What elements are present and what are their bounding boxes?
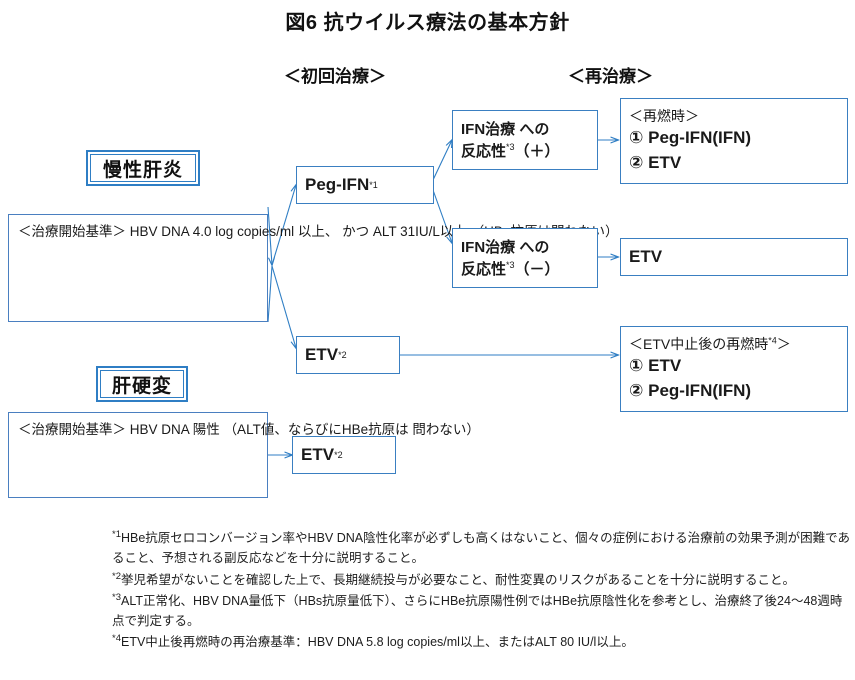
node-relapse-item-2: ② ETV — [629, 151, 839, 176]
label-chronic-hepatitis: 慢性肝炎 — [86, 150, 200, 186]
node-ifn-response-negative-sign: （－） — [515, 261, 560, 278]
node-relapse-header: ＜再燃時＞ — [629, 106, 839, 126]
node-ifn-response-positive-line2: 反応性*3（＋） — [461, 141, 589, 163]
figure-canvas: 図6 抗ウイルス療法の基本方針 ＜初回治療＞ ＜再治療＞ — [0, 0, 855, 680]
node-etv-only-text: ETV — [629, 245, 662, 270]
node-etv-chronic: ETV*2 — [296, 336, 400, 374]
node-etv-stop-relapse-item-2: ② Peg-IFN(IFN) — [629, 379, 839, 404]
footnote-3: *3ALT正常化、HBV DNA量低下（HBs抗原量低下）、さらにHBe抗原陽性… — [112, 591, 852, 632]
footnote-3-text: ALT正常化、HBV DNA量低下（HBs抗原量低下）、さらにHBe抗原陽性例で… — [112, 594, 842, 628]
node-relapse-options: ＜再燃時＞ ① Peg-IFN(IFN) ② ETV — [620, 98, 848, 184]
node-ifn-response-positive-sign: （＋） — [515, 143, 560, 160]
criteria-cirrhosis-line3: （ALT値、ならびにHBe抗原は — [224, 422, 409, 437]
footnotes-list: *1HBe抗原セロコンバージョン率やHBV DNA陰性化率が必ずしも高くはないこ… — [112, 528, 852, 654]
footnote-1: *1HBe抗原セロコンバージョン率やHBV DNA陰性化率が必ずしも高くはないこ… — [112, 528, 852, 569]
node-ifn-response-positive-footnote-ref: *3 — [506, 142, 515, 152]
footnote-4: *4ETV中止後再燃時の再治療基準：HBV DNA 5.8 log copies… — [112, 632, 852, 652]
footnote-1-marker: *1 — [112, 529, 121, 540]
node-etv-stop-relapse-header: ＜ETV中止後の再燃時*4＞ — [629, 334, 839, 354]
node-ifn-response-negative: IFN治療 への 反応性*3（－） — [452, 228, 598, 288]
footnote-2-text: 挙児希望がないことを確認した上で、長期継続投与が必要なこと、耐性変異のリスクがあ… — [121, 573, 795, 587]
criteria-chronic-line2: HBV DNA 4.0 log copies/ml 以上、 — [130, 224, 339, 239]
criteria-box-chronic-hepatitis: ＜治療開始基準＞ HBV DNA 4.0 log copies/ml 以上、 か… — [8, 214, 268, 322]
footnote-2: *2挙児希望がないことを確認した上で、長期継続投与が必要なこと、耐性変異のリスク… — [112, 570, 852, 590]
node-etv-stop-relapse-header-close: ＞ — [777, 336, 791, 352]
criteria-cirrhosis-line4: 問わない） — [412, 422, 480, 437]
node-ifn-response-negative-line2-text: 反応性 — [461, 261, 506, 278]
criteria-chronic-line1: ＜治療開始基準＞ — [18, 224, 126, 239]
node-ifn-response-negative-footnote-ref: *3 — [506, 260, 515, 270]
node-ifn-response-negative-line2: 反応性*3（－） — [461, 259, 589, 281]
node-etv-stop-relapse-footnote-ref: *4 — [768, 335, 777, 345]
node-etv-cirrhosis-text: ETV — [301, 443, 334, 468]
node-etv-cirrhosis: ETV*2 — [292, 436, 396, 474]
node-peg-ifn: Peg-IFN*1 — [296, 166, 434, 204]
criteria-cirrhosis-line2: HBV DNA 陽性 — [130, 422, 220, 437]
label-cirrhosis: 肝硬変 — [96, 366, 188, 402]
node-etv-stop-relapse-options: ＜ETV中止後の再燃時*4＞ ① ETV ② Peg-IFN(IFN) — [620, 326, 848, 412]
node-etv-stop-relapse-header-text: ＜ETV中止後の再燃時 — [629, 336, 768, 352]
node-relapse-item-1: ① Peg-IFN(IFN) — [629, 126, 839, 151]
label-chronic-hepatitis-text: 慢性肝炎 — [90, 154, 196, 182]
footnote-3-marker: *3 — [112, 592, 121, 603]
footnote-4-text: ETV中止後再燃時の再治療基準：HBV DNA 5.8 log copies/m… — [121, 635, 634, 649]
node-etv-stop-relapse-item-1: ① ETV — [629, 354, 839, 379]
node-ifn-response-positive-line1: IFN治療 への — [461, 119, 589, 141]
label-cirrhosis-text: 肝硬変 — [100, 370, 184, 398]
criteria-box-cirrhosis: ＜治療開始基準＞ HBV DNA 陽性 （ALT値、ならびにHBe抗原は 問わな… — [8, 412, 268, 498]
node-ifn-response-positive-line2-text: 反応性 — [461, 143, 506, 160]
criteria-cirrhosis-line1: ＜治療開始基準＞ — [18, 422, 126, 437]
footnote-1-text: HBe抗原セロコンバージョン率やHBV DNA陰性化率が必ずしも高くはないこと、… — [112, 531, 850, 565]
criteria-chronic-line3: かつ — [342, 224, 369, 239]
footnote-4-marker: *4 — [112, 633, 121, 644]
node-etv-only: ETV — [620, 238, 848, 276]
node-ifn-response-negative-line1: IFN治療 への — [461, 237, 589, 259]
node-peg-ifn-text: Peg-IFN — [305, 173, 369, 198]
footnote-2-marker: *2 — [112, 570, 121, 581]
node-etv-chronic-text: ETV — [305, 343, 338, 368]
node-ifn-response-positive: IFN治療 への 反応性*3（＋） — [452, 110, 598, 170]
